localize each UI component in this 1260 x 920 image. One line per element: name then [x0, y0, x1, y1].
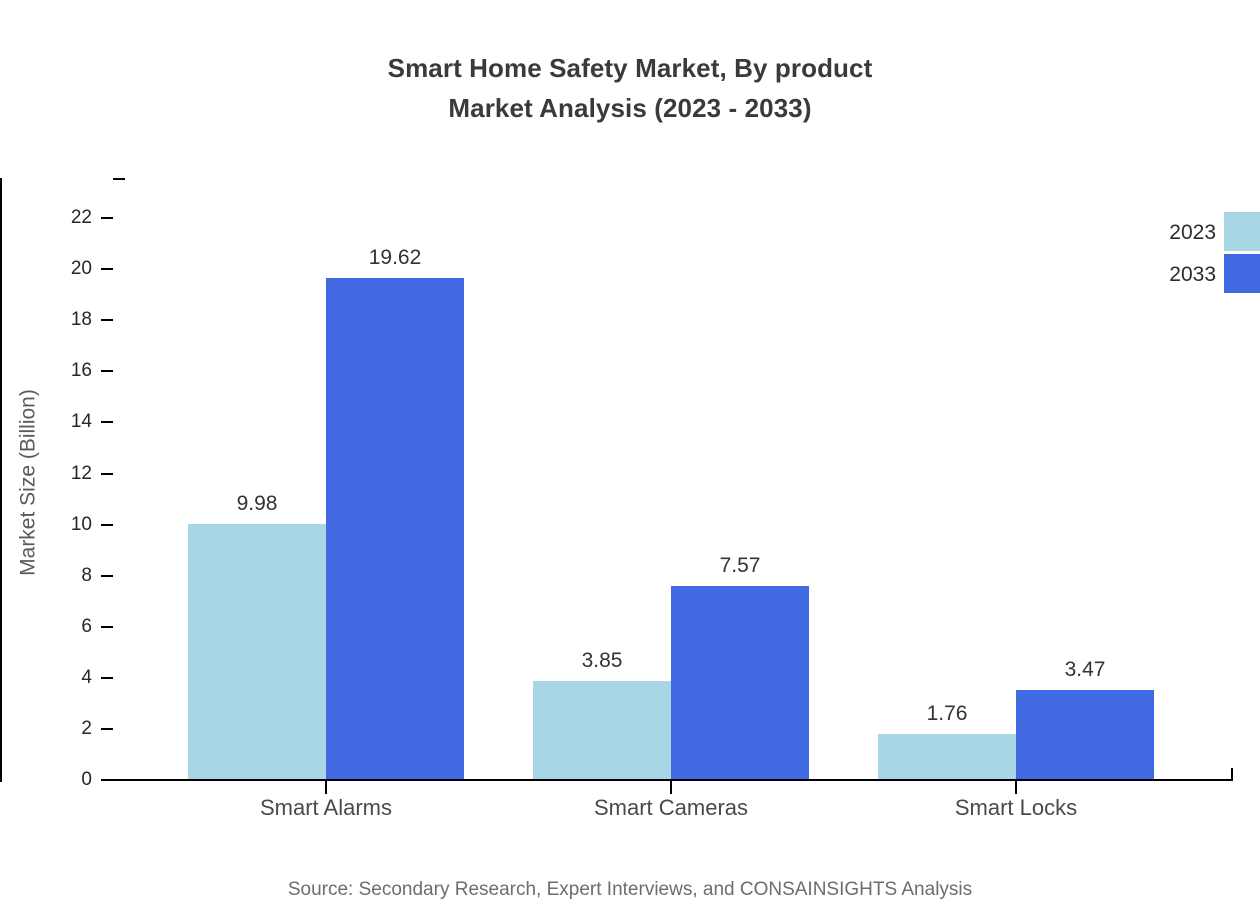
- y-axis-tick-label: 12: [40, 464, 92, 483]
- y-axis-tick-label: 6: [40, 617, 92, 636]
- chart-title-line-1: Smart Home Safety Market, By product: [0, 48, 1260, 88]
- x-axis-tick: [325, 781, 327, 794]
- legend-color-swatch: [1224, 212, 1260, 251]
- x-axis-category-label: Smart Locks: [846, 795, 1186, 821]
- chart-title: Smart Home Safety Market, By product Mar…: [0, 48, 1260, 128]
- bar-value-label: 3.47: [1016, 659, 1154, 680]
- bar-value-label: 1.76: [878, 703, 1016, 724]
- y-axis-tick-label: 14: [40, 412, 92, 431]
- bar: [671, 586, 809, 779]
- y-axis-tick-label: 2: [40, 719, 92, 738]
- y-axis-tick: [101, 728, 113, 730]
- x-axis-tick: [670, 781, 672, 794]
- bar: [1016, 690, 1154, 779]
- chart-title-line-2: Market Analysis (2023 - 2033): [0, 88, 1260, 128]
- y-axis-tick: [101, 575, 113, 577]
- y-axis-tick-label: 4: [40, 668, 92, 687]
- source-note: Source: Secondary Research, Expert Inter…: [0, 878, 1260, 902]
- bar-value-label: 9.98: [188, 493, 326, 514]
- y-axis-tick: [101, 626, 113, 628]
- y-axis-tick: [101, 268, 113, 270]
- chart-legend: 20232033: [1120, 212, 1260, 308]
- y-axis-tick: [101, 370, 113, 372]
- x-axis-category-label: Smart Alarms: [156, 795, 496, 821]
- legend-item[interactable]: 2033: [1120, 254, 1260, 294]
- y-axis-line: [0, 178, 2, 782]
- x-axis-line: [113, 779, 1233, 781]
- bars-layer: 9.9819.623.857.571.763.47: [113, 178, 1233, 779]
- bar: [533, 681, 671, 779]
- legend-item[interactable]: 2023: [1120, 212, 1260, 252]
- y-axis-tick: [101, 421, 113, 423]
- y-axis-tick-label: 0: [40, 770, 92, 789]
- x-axis-tick: [1015, 781, 1017, 794]
- y-axis-tick: [101, 524, 113, 526]
- y-axis-tick-label: 20: [40, 259, 92, 278]
- bar-value-label: 3.85: [533, 650, 671, 671]
- y-axis-tick-label: 10: [40, 515, 92, 534]
- y-axis-tick-label: 16: [40, 361, 92, 380]
- legend-item-label: 2023: [1120, 222, 1216, 243]
- y-axis-tick-label: 8: [40, 566, 92, 585]
- y-axis-tick-label: 22: [40, 208, 92, 227]
- bar: [326, 278, 464, 779]
- y-axis-tick-label: 18: [40, 310, 92, 329]
- bar: [878, 734, 1016, 779]
- y-axis-tick: [101, 473, 113, 475]
- x-axis-category-label: Smart Cameras: [501, 795, 841, 821]
- y-axis-title: Market Size (Billion): [18, 203, 39, 763]
- legend-item-label: 2033: [1120, 264, 1216, 285]
- y-axis-tick: [101, 319, 113, 321]
- y-axis-tick: [101, 779, 113, 781]
- y-axis-tick: [101, 677, 113, 679]
- legend-color-swatch: [1224, 254, 1260, 293]
- bar-value-label: 19.62: [326, 247, 464, 268]
- bar-chart-figure: Smart Home Safety Market, By product Mar…: [0, 0, 1260, 920]
- y-axis-tick: [101, 217, 113, 219]
- bar-value-label: 7.57: [671, 555, 809, 576]
- bar: [188, 524, 326, 779]
